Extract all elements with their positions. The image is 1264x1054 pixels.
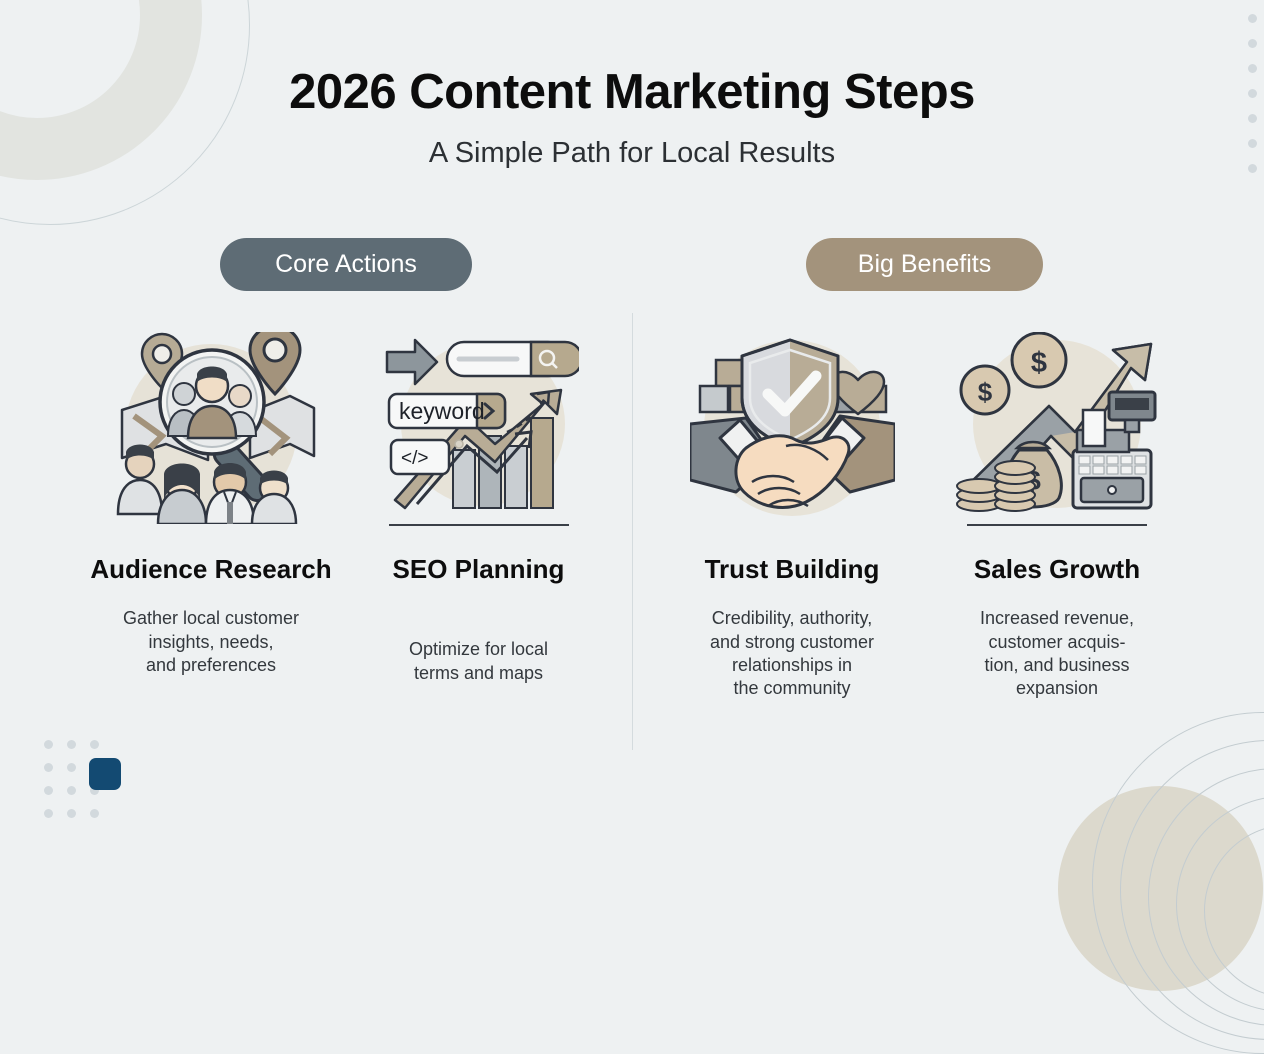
grid-dot xyxy=(44,786,53,795)
code-tag-label: </> xyxy=(401,448,428,469)
grid-dot xyxy=(67,763,76,772)
coin-dollar-symbol: $ xyxy=(1030,347,1046,379)
icon-baseline xyxy=(967,524,1147,526)
keyword-pill-label: keyword xyxy=(399,398,485,424)
card-title: Sales Growth xyxy=(942,554,1172,585)
section-badge-core-actions[interactable]: Core Actions xyxy=(220,238,472,291)
seo-planning-icon: keyword </> xyxy=(366,332,591,524)
grid-dot xyxy=(90,809,99,818)
section-badge-big-benefits-label: Big Benefits xyxy=(858,250,991,279)
card-title: Trust Building xyxy=(676,554,908,585)
card-trust-building[interactable]: Trust Building Credibility, authority, a… xyxy=(676,332,908,701)
beige-circle-bottom-right xyxy=(1058,786,1263,991)
grid-dot xyxy=(44,809,53,818)
section-badge-big-benefits[interactable]: Big Benefits xyxy=(806,238,1043,291)
card-seo-planning[interactable]: keyword </> SEO Planning Optimize for lo… xyxy=(366,332,591,685)
concentric-arc-2 xyxy=(1120,740,1264,1040)
grid-dot xyxy=(67,809,76,818)
navy-square-accent xyxy=(89,758,121,790)
card-sales-growth[interactable]: $ $ $ xyxy=(942,332,1172,701)
card-title: Audience Research xyxy=(86,554,336,585)
card-description: Increased revenue, customer acquis- tion… xyxy=(942,607,1172,701)
card-title: SEO Planning xyxy=(366,554,591,585)
icon-baseline xyxy=(702,524,882,526)
card-description: Optimize for local terms and maps xyxy=(366,638,591,685)
grid-dot xyxy=(44,763,53,772)
concentric-arc-1 xyxy=(1092,712,1264,1054)
page-subtitle: A Simple Path for Local Results xyxy=(0,137,1264,170)
page-title: 2026 Content Marketing Steps xyxy=(0,66,1264,119)
section-badge-core-actions-label: Core Actions xyxy=(275,250,417,279)
card-description: Gather local customer insights, needs, a… xyxy=(86,607,336,677)
grid-dot xyxy=(1248,39,1257,48)
concentric-arc-4 xyxy=(1176,796,1264,1012)
grid-dot xyxy=(90,786,99,795)
icon-baseline xyxy=(121,524,301,526)
grid-dot xyxy=(67,786,76,795)
concentric-arc-3 xyxy=(1148,768,1264,1026)
trust-building-handshake-icon xyxy=(676,332,908,524)
grid-dot xyxy=(67,740,76,749)
grid-dot xyxy=(1248,14,1257,23)
header: 2026 Content Marketing Steps A Simple Pa… xyxy=(0,66,1264,170)
audience-research-icon xyxy=(86,332,336,524)
icon-baseline xyxy=(389,524,569,526)
card-description: Credibility, authority, and strong custo… xyxy=(676,607,908,701)
card-audience-research[interactable]: Audience Research Gather local customer … xyxy=(86,332,336,677)
section-divider xyxy=(632,313,633,750)
grid-dot xyxy=(90,763,99,772)
grid-dot xyxy=(90,740,99,749)
coin-dollar-symbol: $ xyxy=(977,377,992,407)
concentric-arc-5 xyxy=(1204,824,1264,998)
grid-dot xyxy=(44,740,53,749)
sales-growth-icon: $ $ $ xyxy=(942,332,1172,524)
